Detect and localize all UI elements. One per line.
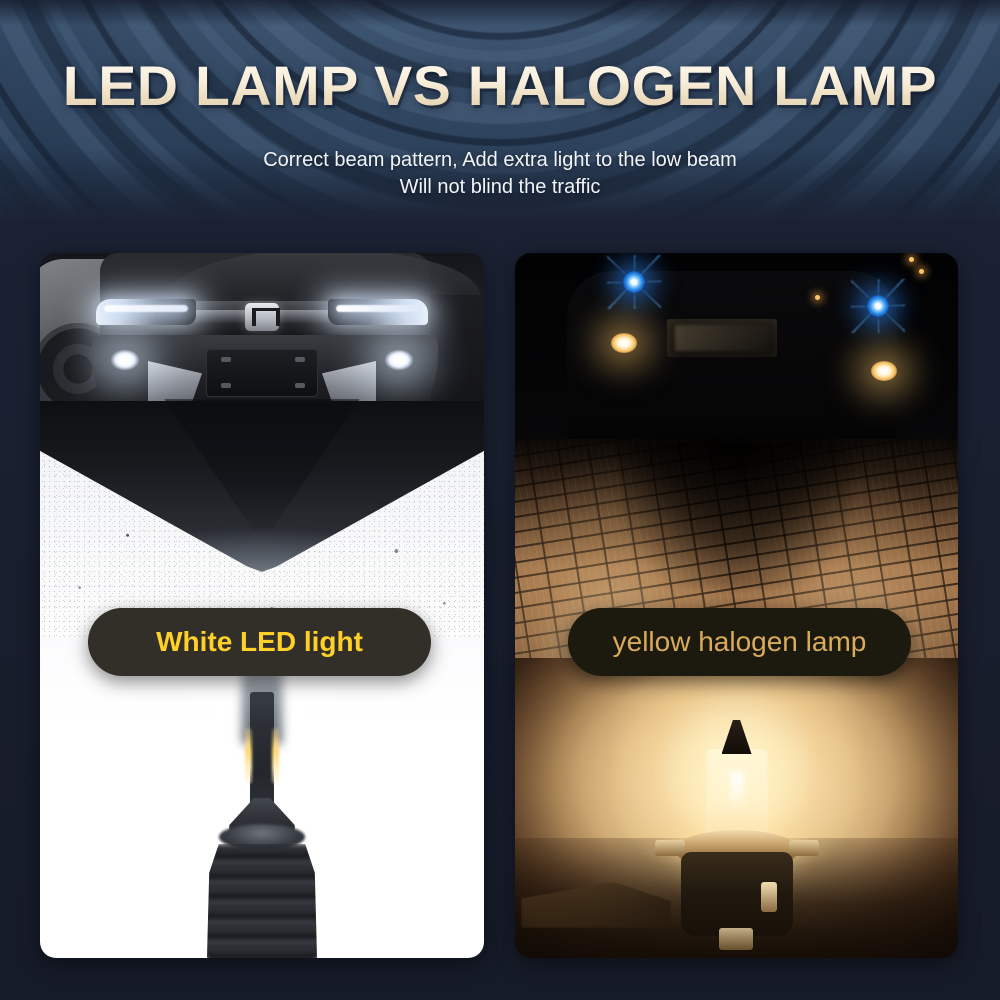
halogen-car-shadow: [621, 439, 851, 589]
led-heatsink: [202, 844, 322, 958]
blue-accent-light-right: [867, 295, 889, 317]
halogen-bulb-photo: [515, 658, 958, 958]
led-label-badge: White LED light: [88, 608, 431, 676]
led-scene: [40, 253, 484, 958]
halogen-label-badge: yellow halogen lamp: [568, 608, 911, 676]
led-bulb-body: [250, 692, 274, 808]
comparison-infographic: LED LAMP VS HALOGEN LAMP Correct beam pa…: [0, 0, 1000, 1000]
led-chip-left: [245, 728, 252, 784]
drl-strip-right: [336, 305, 420, 312]
foglamp-right: [384, 349, 414, 371]
subtitle-line-2: Will not blind the traffic: [0, 174, 1000, 201]
halogen-foglamp-right: [871, 361, 897, 381]
page-subtitle: Correct beam pattern, Add extra light to…: [0, 147, 1000, 201]
halogen-vignette: [515, 658, 958, 958]
ambient-light-dot-3: [815, 295, 820, 300]
ambient-light-dot-2: [919, 269, 924, 274]
halogen-panel[interactable]: [515, 253, 958, 958]
banner-top-shade: [0, 0, 1000, 26]
ambient-light-dot-1: [909, 257, 914, 262]
led-chip-right: [272, 728, 279, 784]
drl-strip-left: [104, 305, 188, 312]
led-panel[interactable]: [40, 253, 484, 958]
comparison-panels: [0, 253, 1000, 958]
headlamp-left: [96, 299, 196, 325]
honda-emblem-icon: [245, 303, 279, 331]
halogen-foglamp-left: [611, 333, 637, 353]
page-title: LED LAMP VS HALOGEN LAMP: [0, 56, 1000, 116]
led-bulb-photo: [40, 638, 484, 958]
foglamp-left: [110, 349, 140, 371]
blue-accent-light-left: [623, 271, 645, 293]
halogen-license-plate: [667, 319, 777, 357]
license-plate-holder: [206, 349, 318, 397]
subtitle-line-1: Correct beam pattern, Add extra light to…: [0, 147, 1000, 174]
headlamp-right: [328, 299, 428, 325]
halogen-scene: [515, 253, 958, 958]
